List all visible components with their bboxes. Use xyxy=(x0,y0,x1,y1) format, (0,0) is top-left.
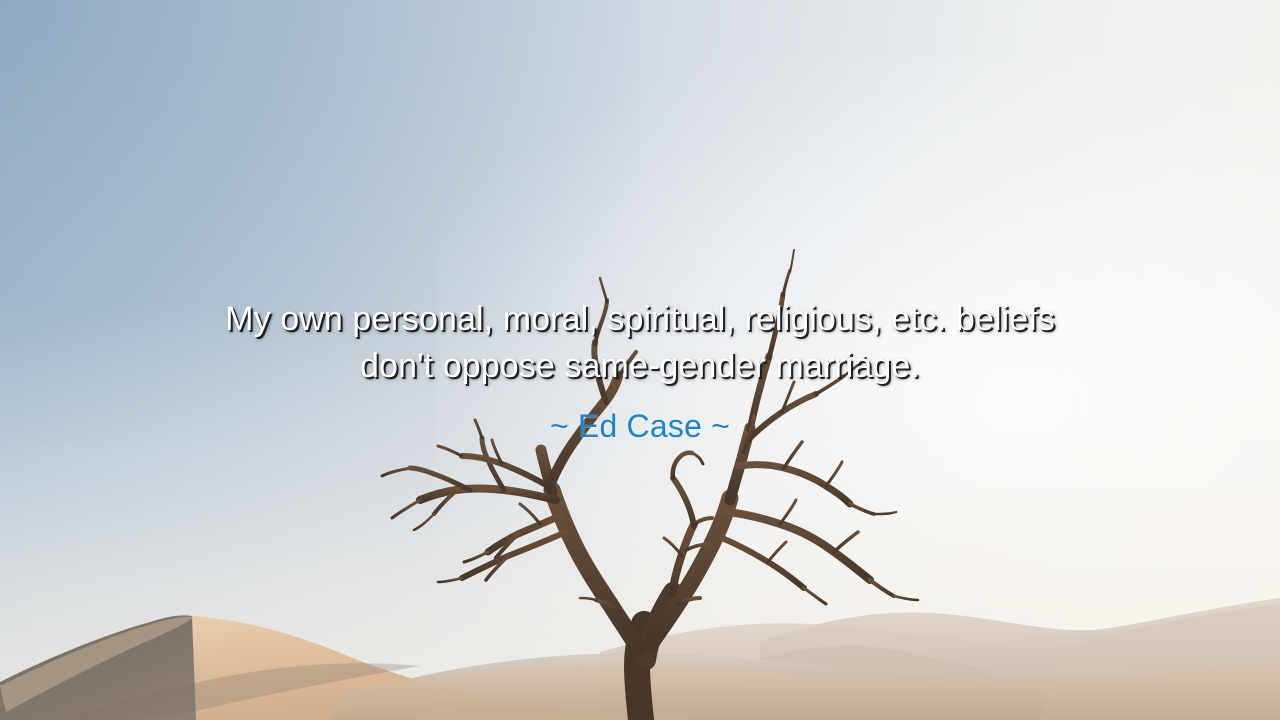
foreground-dune xyxy=(0,590,1280,720)
quote-author: ~ Ed Case ~ xyxy=(120,390,1160,445)
quote-text: My own personal, moral, spiritual, relig… xyxy=(120,296,1160,390)
quote-block: My own personal, moral, spiritual, relig… xyxy=(120,296,1160,445)
quote-card: My own personal, moral, spiritual, relig… xyxy=(0,0,1280,720)
